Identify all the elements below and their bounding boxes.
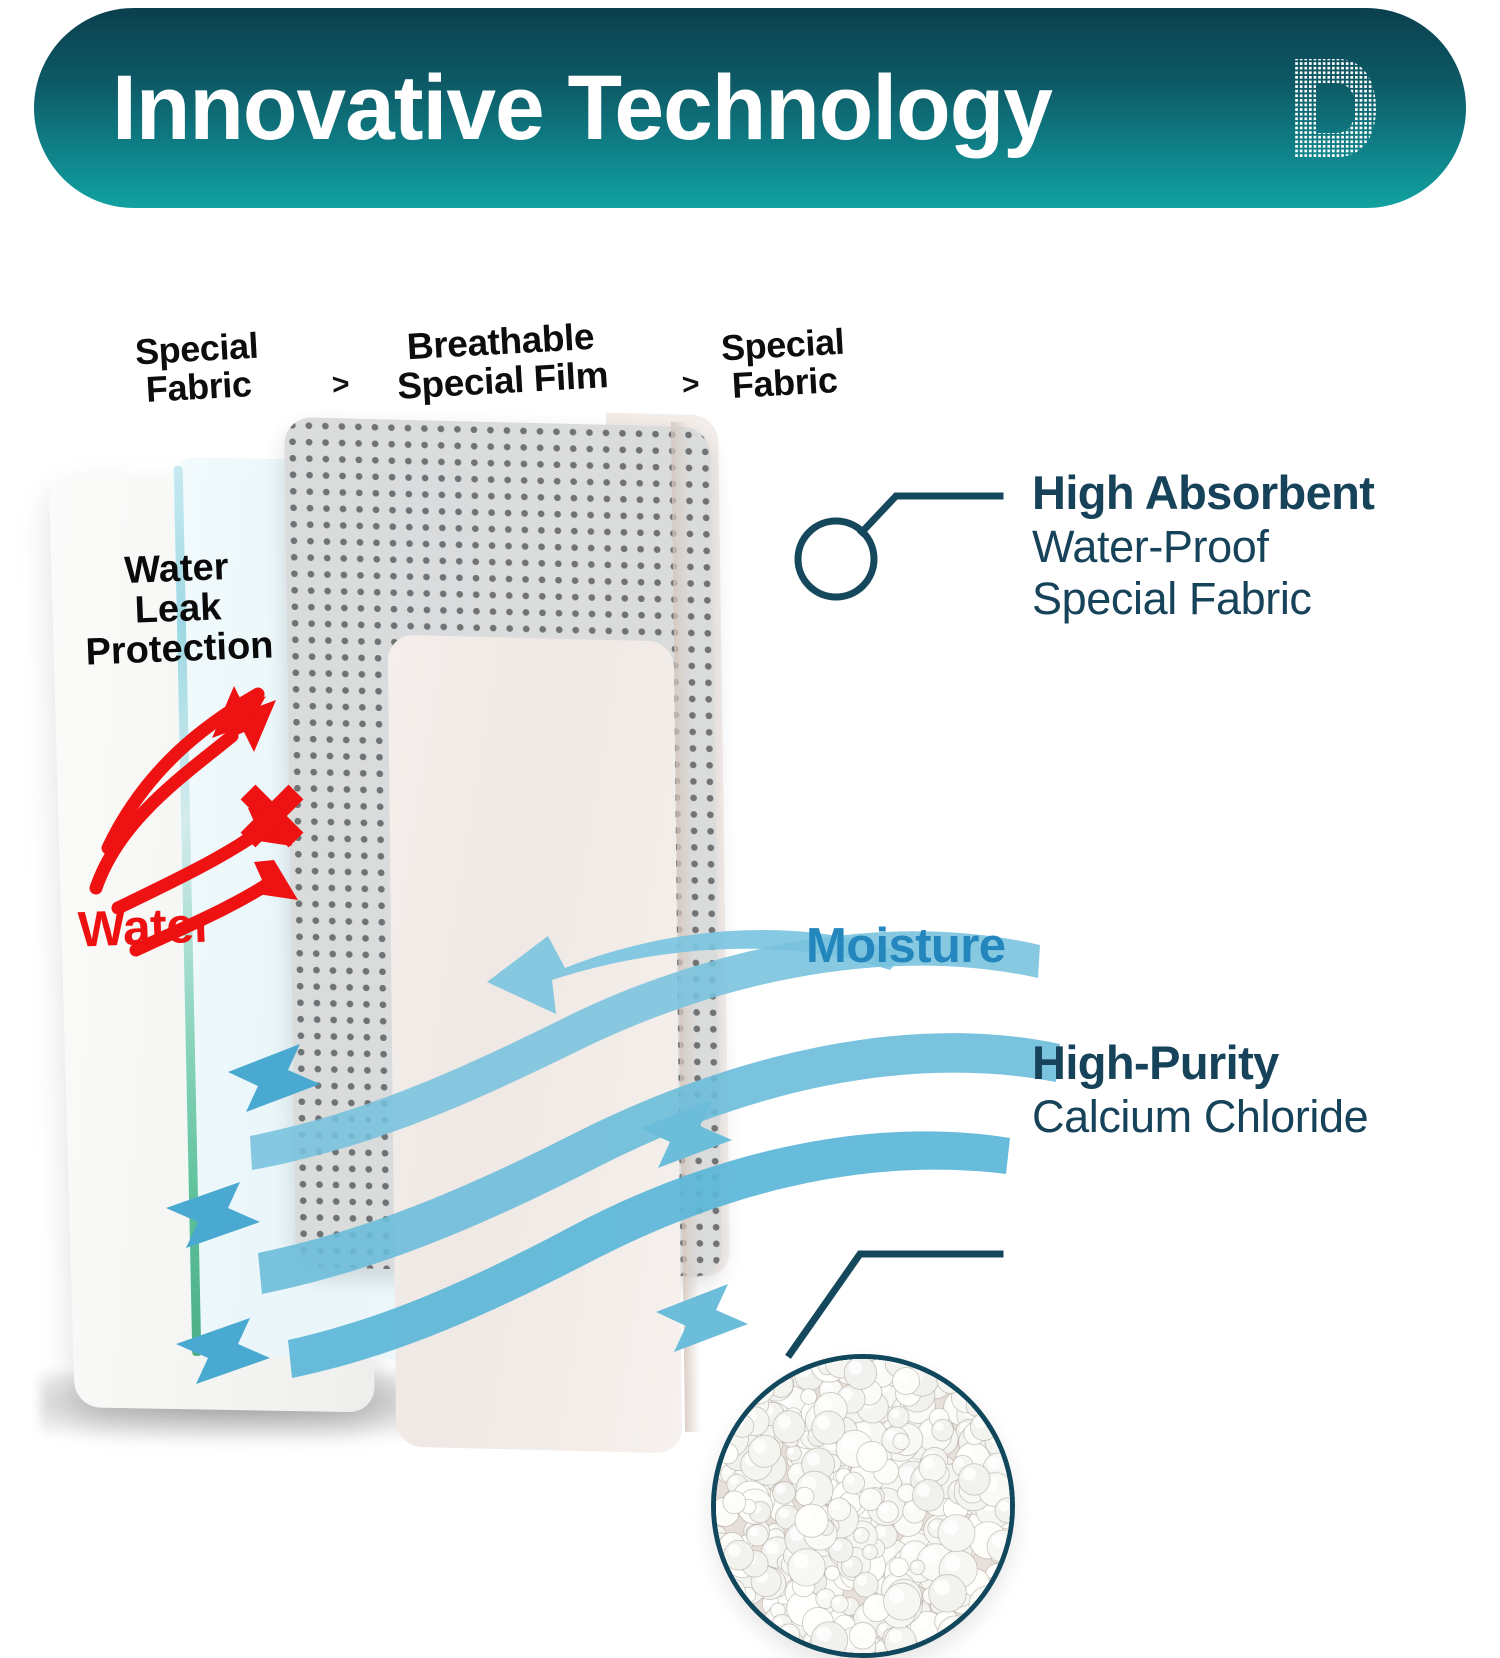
callout-high-absorbent: High Absorbent Water-Proof Special Fabri…: [1032, 466, 1374, 625]
circle-callout-marker: [798, 521, 874, 597]
calcium-chloride-beads-icon: [716, 1359, 1010, 1653]
layer-right-absorbent-fabric: [388, 635, 683, 1454]
header-banner: Innovative Technology: [34, 8, 1466, 208]
stack-separator-2: >: [681, 368, 700, 403]
callout-absorbent-headline: High Absorbent: [1032, 466, 1374, 521]
label-right-special-fabric: Special Fabric: [720, 323, 847, 406]
label-breathable-special-film: Breathable Special Film: [394, 316, 609, 406]
callout-high-purity: High-Purity Calcium Chloride: [1032, 1036, 1368, 1143]
dotted-letter-d-logo-icon: [1286, 53, 1378, 163]
technology-diagram: Special Fabric > Breathable Special Film…: [0, 208, 1500, 1456]
callout-purity-body: Calcium Chloride: [1032, 1091, 1368, 1143]
label-left-special-fabric: Special Fabric: [134, 327, 261, 410]
label-water-leak-protection: Water Leak Protection: [56, 545, 300, 674]
callout-purity-headline: High-Purity: [1032, 1036, 1368, 1091]
label-water: Water: [77, 895, 214, 958]
stack-separator-1: >: [331, 368, 350, 403]
callout-absorbent-body: Water-Proof Special Fabric: [1032, 521, 1374, 625]
page-title: Innovative Technology: [112, 62, 1052, 154]
label-moisture: Moisture: [806, 918, 1005, 974]
calcium-chloride-beads-inset: [711, 1354, 1015, 1658]
